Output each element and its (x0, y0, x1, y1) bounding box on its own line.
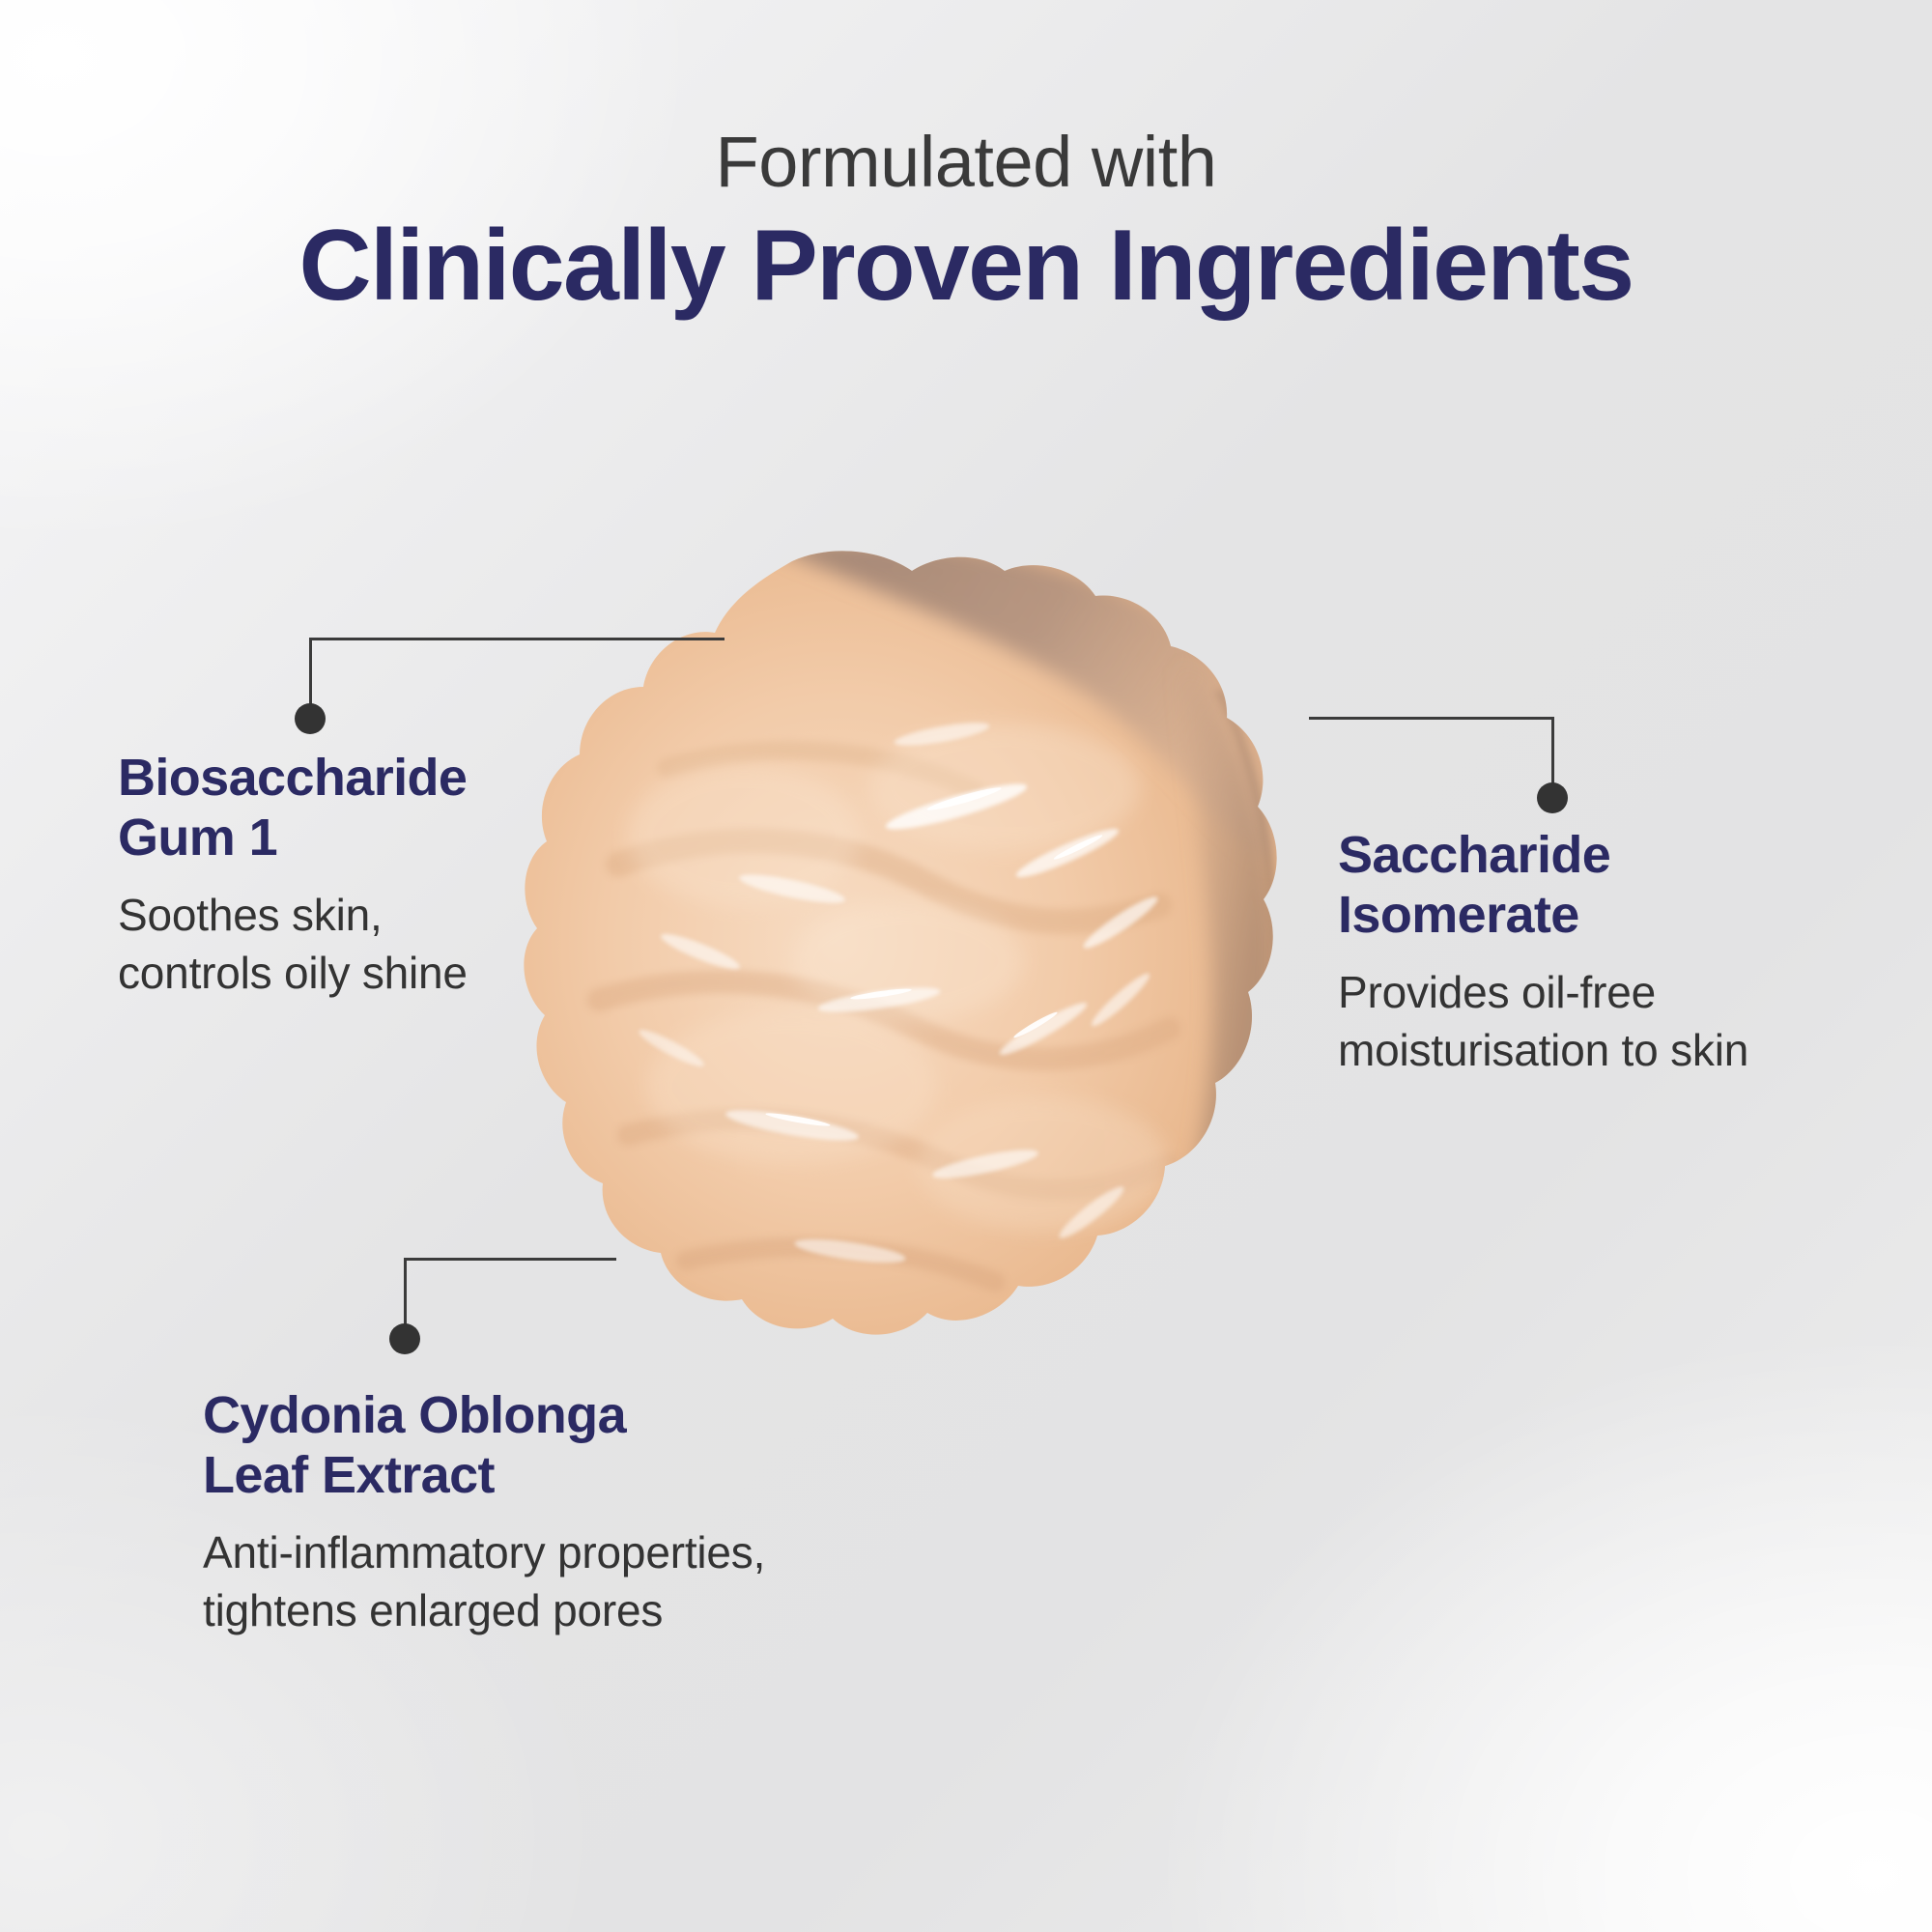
header-block: Formulated with Clinically Proven Ingred… (0, 124, 1932, 319)
callout-title: Cydonia Oblonga Leaf Extract (203, 1386, 937, 1505)
callout-description: Provides oil-free moisturisation to skin (1338, 964, 1879, 1080)
connector-right-horizontal (1309, 717, 1554, 720)
connector-left-horizontal (309, 638, 724, 640)
connector-bottom-horizontal (404, 1258, 616, 1261)
page-title: Clinically Proven Ingredients (0, 213, 1932, 319)
connector-left-dot (295, 703, 326, 734)
callout-title: Saccharide Isomerate (1338, 826, 1879, 945)
callout-cydonia-oblonga-leaf-extract: Cydonia Oblonga Leaf Extract Anti-inflam… (203, 1386, 937, 1640)
callout-description: Anti-inflammatory properties, tightens e… (203, 1524, 937, 1640)
callout-saccharide-isomerate: Saccharide Isomerate Provides oil-free m… (1338, 826, 1879, 1080)
callout-description: Soothes skin, controls oily shine (118, 887, 572, 1003)
callout-biosaccharide-gum-1: Biosaccharide Gum 1 Soothes skin, contro… (118, 749, 572, 1003)
infographic-canvas: Formulated with Clinically Proven Ingred… (0, 0, 1932, 1932)
callout-title: Biosaccharide Gum 1 (118, 749, 572, 867)
connector-bottom-dot (389, 1323, 420, 1354)
connector-right-dot (1537, 782, 1568, 813)
header-eyebrow: Formulated with (0, 124, 1932, 201)
product-gel-image (502, 546, 1304, 1406)
